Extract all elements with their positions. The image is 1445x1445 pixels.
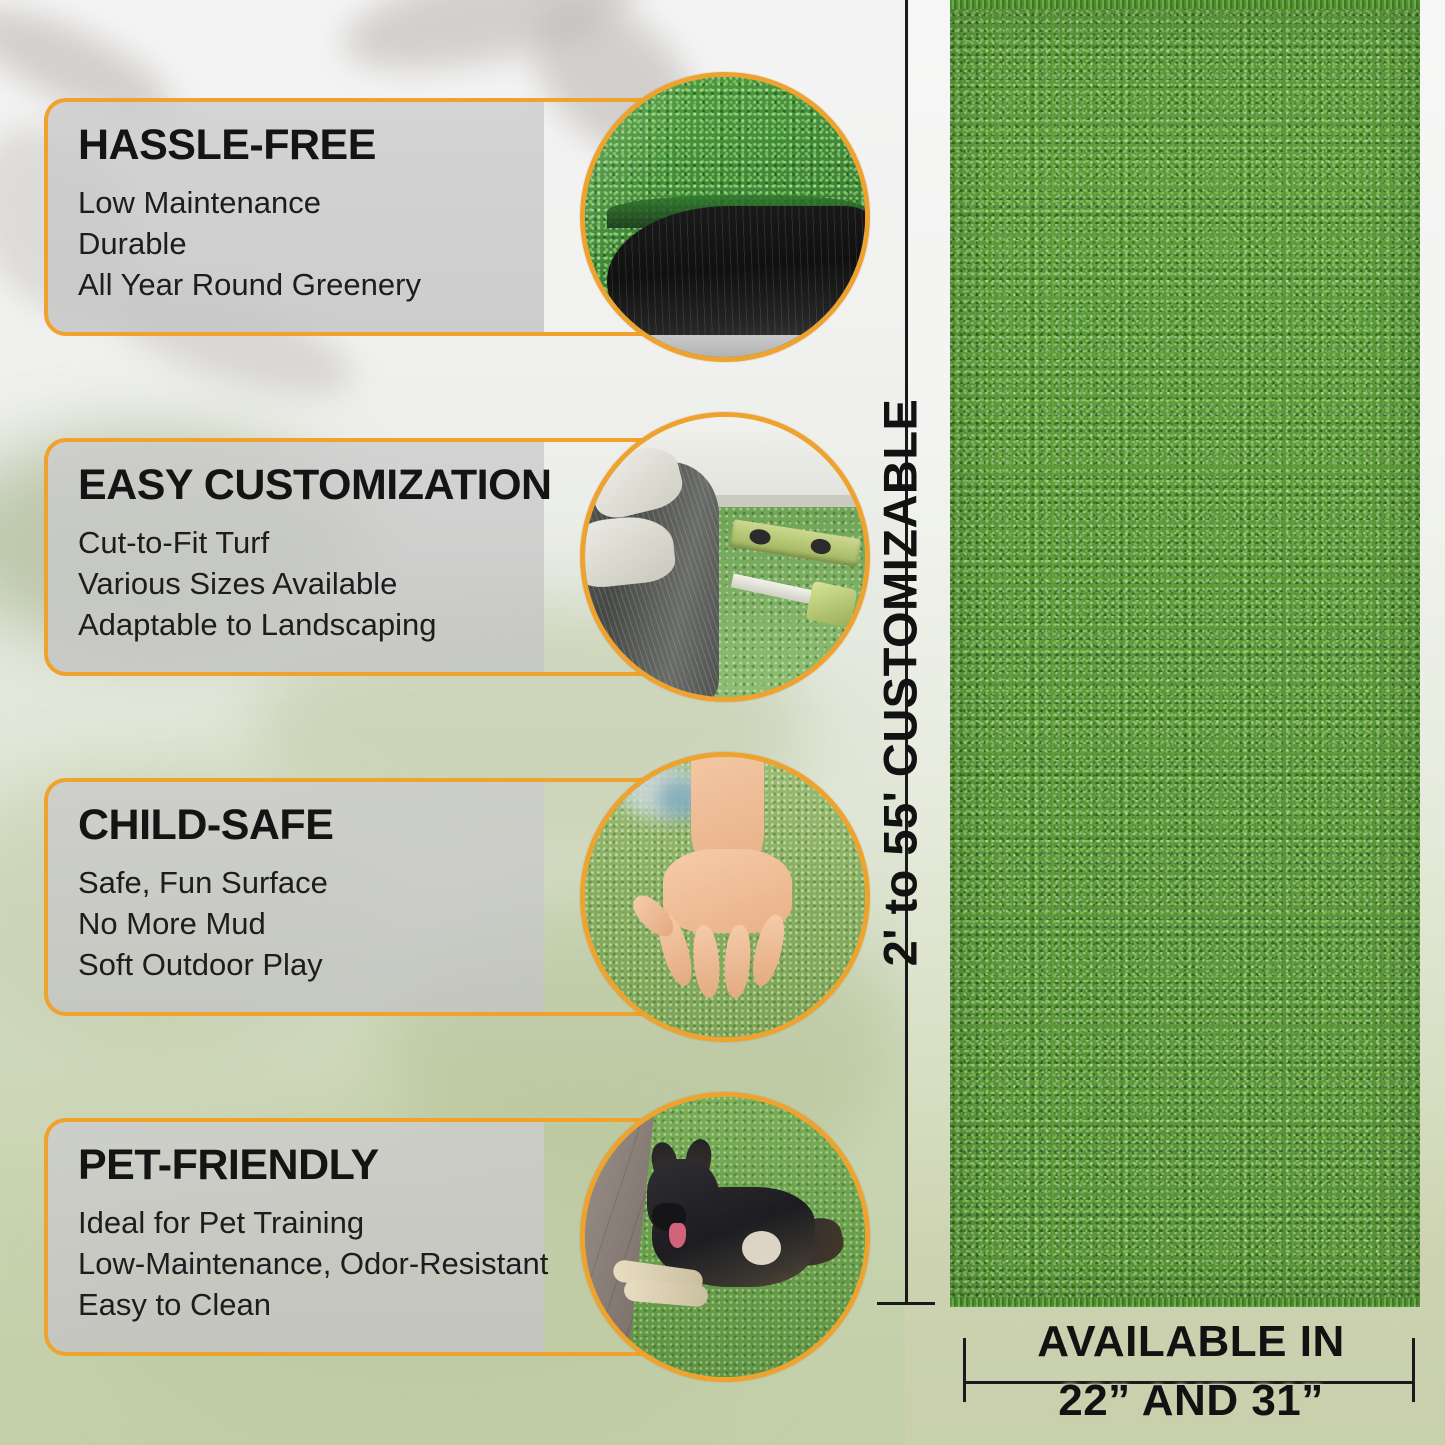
feature-title: EASY CUSTOMIZATION bbox=[78, 464, 544, 507]
feature-bullet: Cut-to-Fit Turf bbox=[78, 523, 544, 564]
feature-bullet: All Year Round Greenery bbox=[78, 265, 544, 306]
feature-title: HASSLE-FREE bbox=[78, 124, 544, 167]
feature-bullet: Adaptable to Landscaping bbox=[78, 605, 544, 646]
callout-box-hassle-free: HASSLE-FREE Low Maintenance Durable All … bbox=[44, 98, 544, 336]
feature-bullet: Easy to Clean bbox=[78, 1285, 544, 1326]
feature-bullet: Various Sizes Available bbox=[78, 564, 544, 605]
turf-black-backing bbox=[607, 206, 870, 346]
floor-strip bbox=[585, 335, 865, 357]
horizontal-dimension-label: AVAILABLE IN 22” AND 31” bbox=[965, 1320, 1417, 1422]
feature-bullet: Safe, Fun Surface bbox=[78, 863, 544, 904]
feature-hassle-free: HASSLE-FREE Low Maintenance Durable All … bbox=[0, 80, 905, 380]
feature-title: PET-FRIENDLY bbox=[78, 1144, 544, 1187]
dog-tongue bbox=[669, 1223, 686, 1248]
feature-child-safe: CHILD-SAFE Safe, Fun Surface No More Mud… bbox=[0, 760, 905, 1060]
feature-photo-child-hand bbox=[580, 752, 870, 1042]
feature-easy-customization: EASY CUSTOMIZATION Cut-to-Fit Turf Vario… bbox=[0, 420, 905, 720]
feature-pet-friendly: PET-FRIENDLY Ideal for Pet Training Low-… bbox=[0, 1100, 905, 1400]
feature-bullet: Ideal for Pet Training bbox=[78, 1203, 544, 1244]
feature-bullet: Low-Maintenance, Odor-Resistant bbox=[78, 1244, 544, 1285]
callout-box-easy-customization: EASY CUSTOMIZATION Cut-to-Fit Turf Vario… bbox=[44, 438, 544, 676]
callout-box-child-safe: CHILD-SAFE Safe, Fun Surface No More Mud… bbox=[44, 778, 544, 1016]
turf-top-edge bbox=[950, 0, 1420, 9]
infographic-canvas: 2' to 55' CUSTOMIZABLE AVAILABLE IN 22” … bbox=[0, 0, 1445, 1445]
feature-photo-installing-turf bbox=[580, 412, 870, 702]
width-options-text: 22” AND 31” bbox=[965, 1379, 1417, 1422]
feature-title: CHILD-SAFE bbox=[78, 804, 544, 847]
feature-photo-rolled-turf bbox=[580, 72, 870, 362]
feature-bullet: No More Mud bbox=[78, 904, 544, 945]
turf-swatch-image bbox=[950, 0, 1420, 1305]
callout-box-pet-friendly: PET-FRIENDLY Ideal for Pet Training Low-… bbox=[44, 1118, 544, 1356]
feature-bullet: Durable bbox=[78, 224, 544, 265]
feature-bullet: Soft Outdoor Play bbox=[78, 945, 544, 986]
dog-chest-marking bbox=[742, 1231, 781, 1265]
turf-bottom-edge bbox=[950, 1298, 1420, 1307]
available-in-text: AVAILABLE IN bbox=[965, 1320, 1417, 1363]
feature-photo-dog-on-turf bbox=[580, 1092, 870, 1382]
feature-bullet: Low Maintenance bbox=[78, 183, 544, 224]
